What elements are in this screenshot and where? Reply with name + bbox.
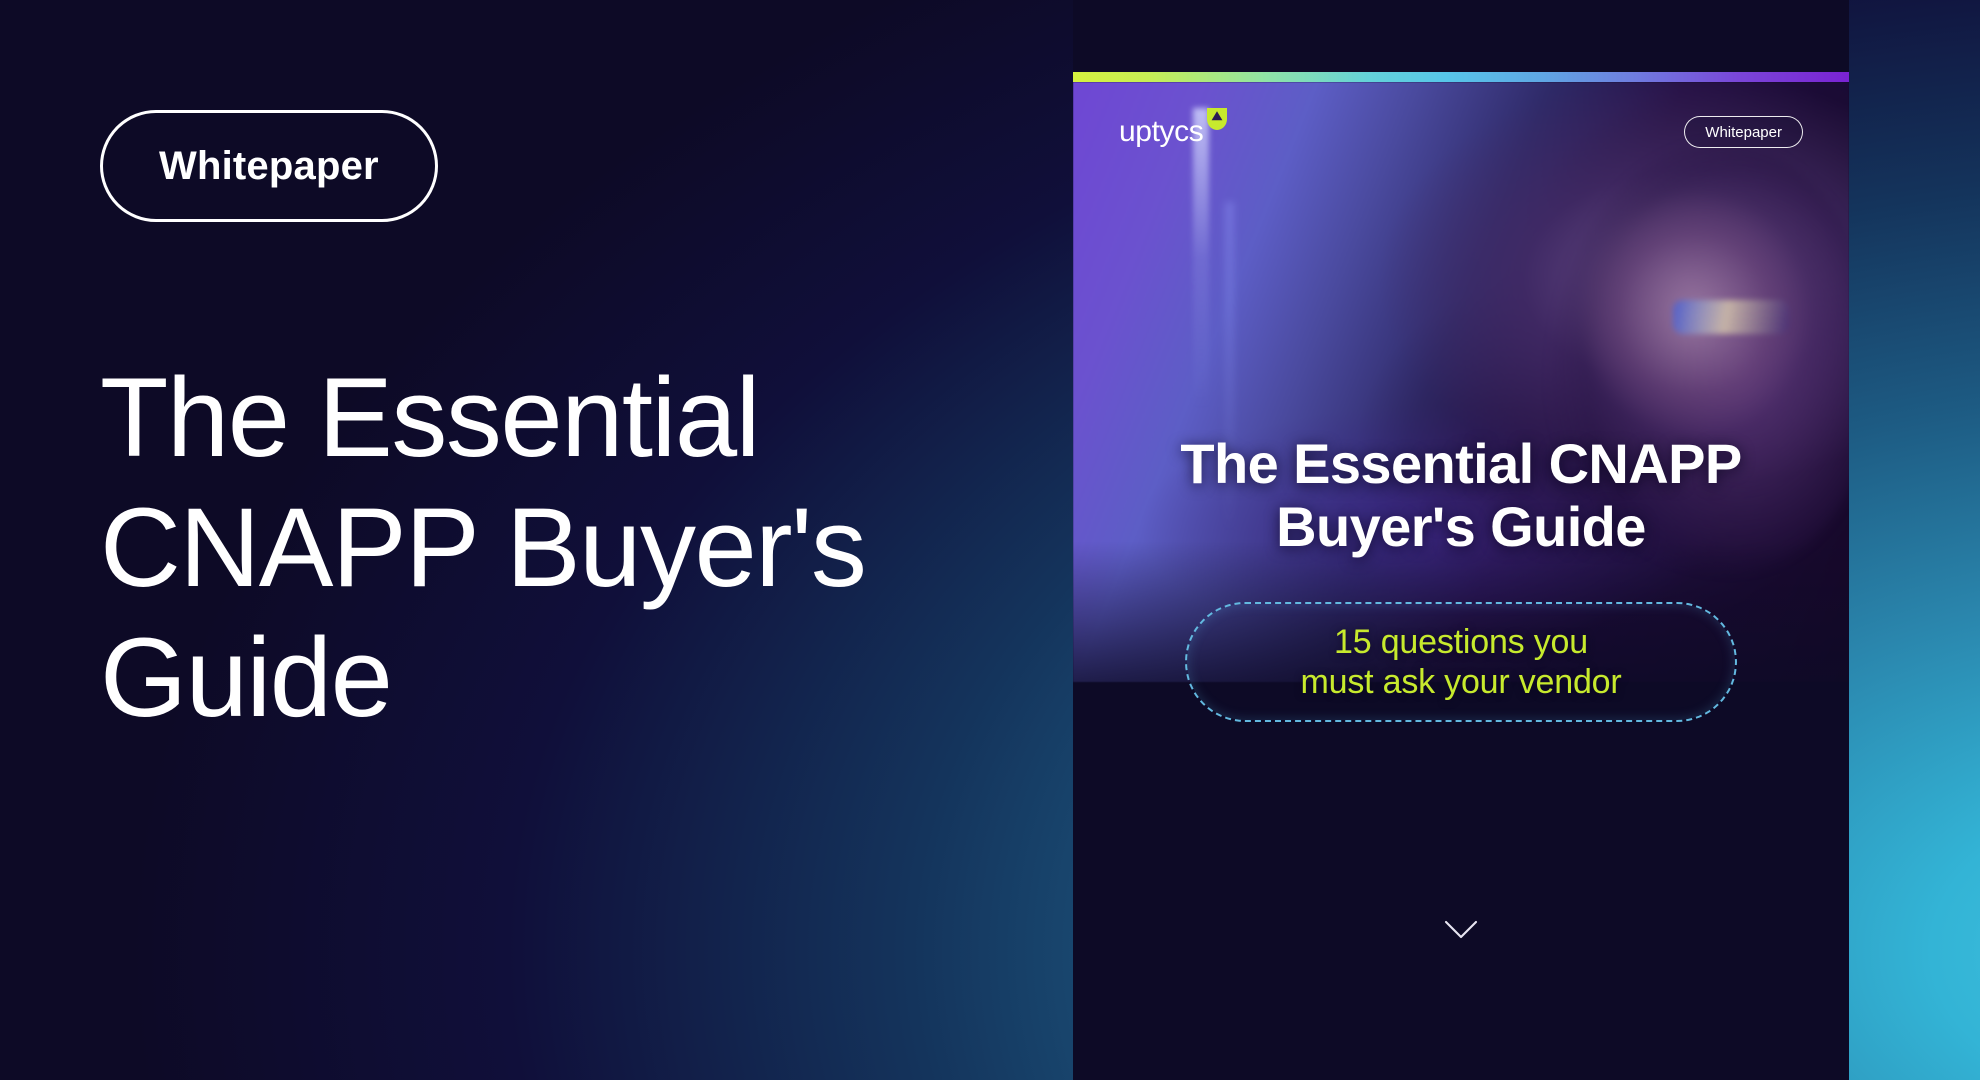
whitepaper-card-panel: uptycs Whitepaper The Essential CNAPP Bu… [1073, 0, 1849, 1080]
card-gradient-bar [1073, 72, 1849, 82]
uptycs-logo[interactable]: uptycs [1119, 117, 1227, 147]
card-subtitle: 15 questions you must ask your vendor [1300, 622, 1621, 702]
uptycs-shield-icon [1207, 108, 1227, 135]
uptycs-wordmark: uptycs [1119, 117, 1203, 147]
card-title: The Essential CNAPP Buyer's Guide [1113, 432, 1809, 559]
card-subtitle-capsule: 15 questions you must ask your vendor [1185, 602, 1737, 722]
hero-section: Whitepaper The Essential CNAPP Buyer's G… [0, 0, 1073, 1080]
hero-whitepaper-badge: Whitepaper [100, 110, 438, 222]
chevron-down-icon[interactable] [1444, 920, 1478, 945]
card-whitepaper-badge: Whitepaper [1684, 116, 1803, 148]
page-title: The Essential CNAPP Buyer's Guide [100, 353, 930, 743]
card-header: uptycs Whitepaper [1119, 116, 1803, 148]
page-root: Whitepaper The Essential CNAPP Buyer's G… [0, 0, 1980, 1080]
